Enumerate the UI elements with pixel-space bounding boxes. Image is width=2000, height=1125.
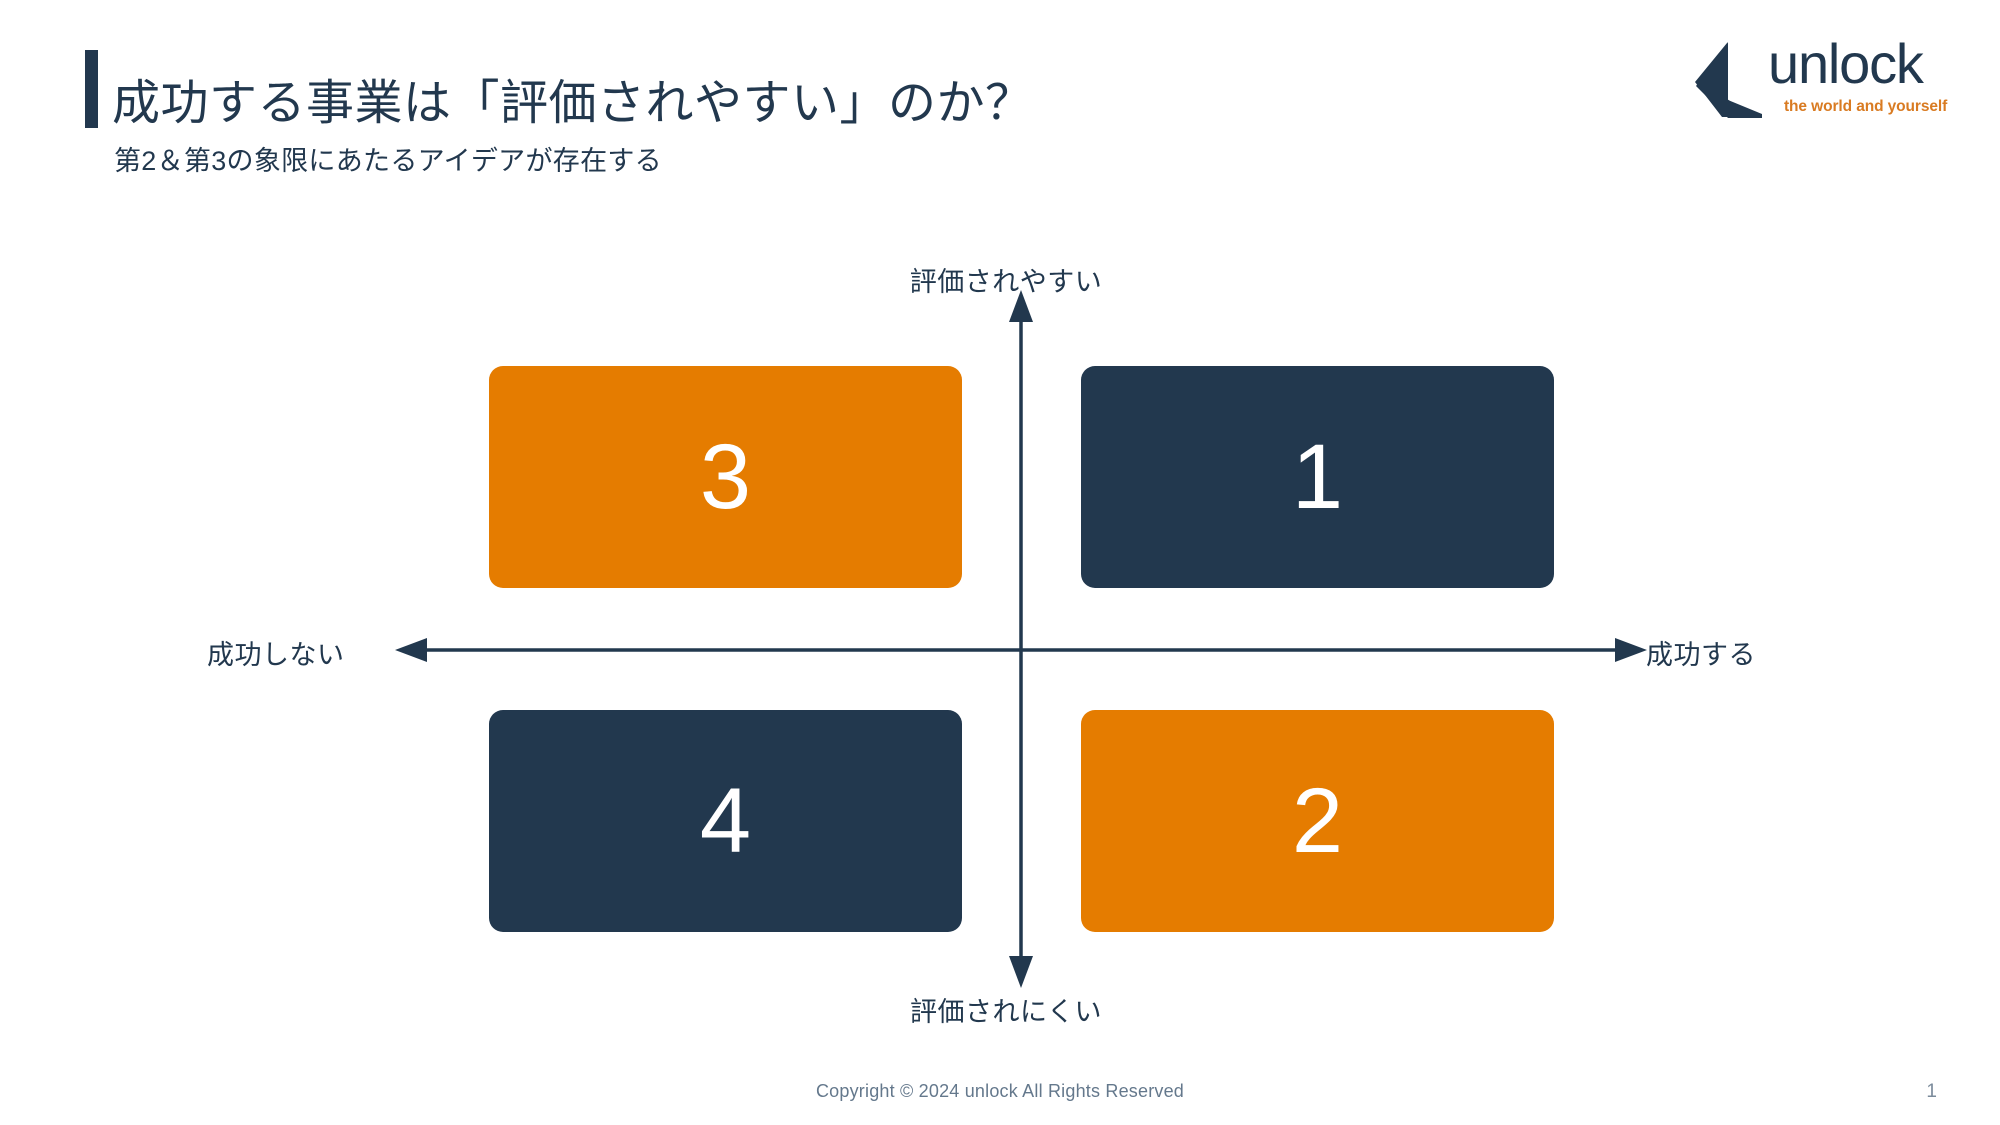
footer-copyright: Copyright © 2024 unlock All Rights Reser… bbox=[816, 1081, 1184, 1102]
title-accent-bar bbox=[85, 50, 98, 128]
quadrant-box-1: 1 bbox=[1081, 366, 1554, 588]
axis-label-left: 成功しない bbox=[207, 633, 345, 672]
page-title: 成功する事業は「評価されやすい」のか？ bbox=[112, 76, 1034, 133]
quadrant-box-2: 2 bbox=[1081, 710, 1554, 932]
axis-label-right: 成功する bbox=[1646, 633, 1756, 672]
page-subtitle: 第2＆第3の象限にあたるアイデアが存在する bbox=[114, 139, 662, 178]
quadrant-box-3: 3 bbox=[489, 366, 962, 588]
unlock-chevron-mark-icon bbox=[1694, 42, 1762, 118]
unlock-logo: unlock the world and yourself bbox=[1694, 36, 1942, 122]
logo-tagline: the world and yourself bbox=[1784, 98, 1947, 116]
footer-page-number: 1 bbox=[1926, 1081, 1937, 1103]
logo-wordmark: unlock bbox=[1768, 36, 1923, 92]
vertical-axis bbox=[1009, 290, 1033, 988]
slide: 成功する事業は「評価されやすい」のか？ 第2＆第3の象限にあたるアイデアが存在す… bbox=[0, 0, 2000, 1125]
horizontal-axis bbox=[395, 638, 1647, 662]
quadrant-box-4: 4 bbox=[489, 710, 962, 932]
axis-label-bottom: 評価されにくい bbox=[910, 990, 1102, 1029]
axis-label-top: 評価されやすい bbox=[910, 260, 1103, 299]
